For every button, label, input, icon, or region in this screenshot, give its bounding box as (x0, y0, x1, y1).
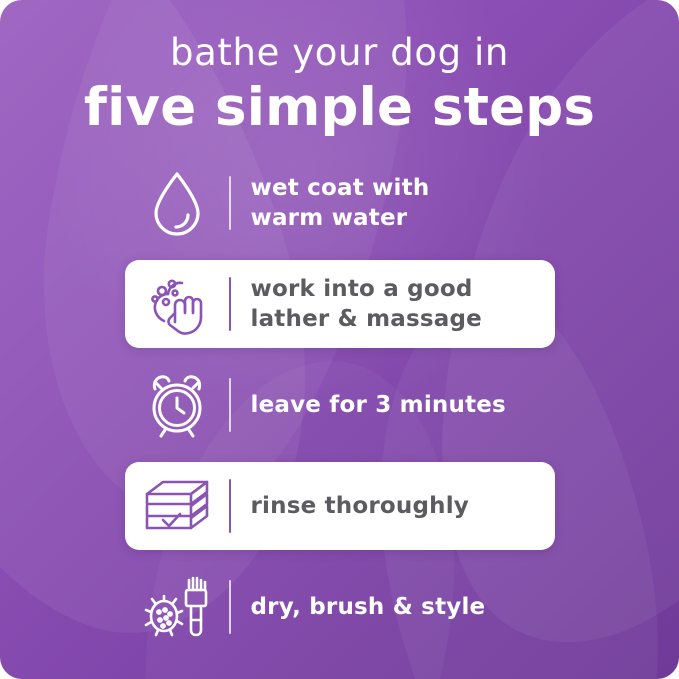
step-label-1: wet coat with warm water (251, 173, 430, 234)
step-divider (229, 479, 231, 533)
hand-lather-icon (125, 265, 229, 343)
step-divider (229, 277, 231, 331)
step-divider (229, 378, 231, 432)
step-spacer (0, 550, 679, 563)
step-spacer (0, 247, 679, 260)
brush-comb-icon (125, 568, 229, 646)
step-label-4: rinse thoroughly (251, 491, 470, 521)
infographic-poster: bathe your dog in five simple steps wet … (0, 0, 679, 679)
step-spacer (0, 348, 679, 361)
step-divider (229, 580, 231, 634)
step-spacer (0, 449, 679, 462)
heading-block: bathe your dog in five simple steps (0, 0, 679, 137)
step-item-5: dry, brush & style (125, 563, 555, 651)
step-item-3: leave for 3 minutes (125, 361, 555, 449)
step-divider (229, 176, 231, 230)
alarm-clock-icon (125, 366, 229, 444)
step-label-5: dry, brush & style (251, 592, 486, 622)
step-item-2: work into a good lather & massage (125, 260, 555, 348)
steps-list: wet coat with warm water (0, 159, 679, 651)
water-drop-icon (125, 164, 229, 242)
step-label-3: leave for 3 minutes (251, 390, 506, 420)
step-item-4: rinse thoroughly (125, 462, 555, 550)
heading-line-2: five simple steps (0, 79, 679, 137)
step-item-1: wet coat with warm water (125, 159, 555, 247)
folded-towels-icon (125, 467, 229, 545)
step-label-2: work into a good lather & massage (251, 274, 482, 335)
heading-line-1: bathe your dog in (0, 34, 679, 73)
